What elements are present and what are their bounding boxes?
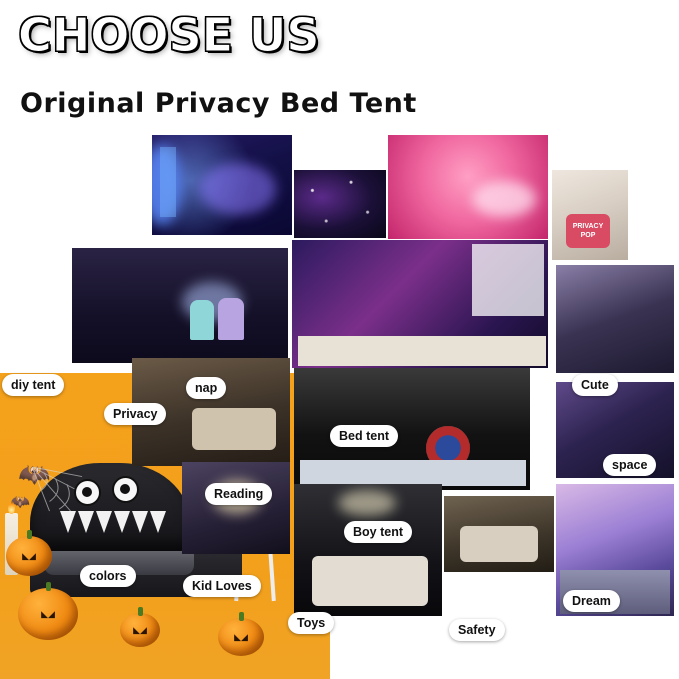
label-toys[interactable]: Toys (288, 612, 334, 634)
label-bed-tent[interactable]: Bed tent (330, 425, 398, 447)
pumpkin-decor: ◣◢ (6, 536, 52, 576)
label-kid-loves[interactable]: Kid Loves (183, 575, 261, 597)
photo-cute-tent (556, 265, 674, 373)
label-diy-tent[interactable]: diy tent (2, 374, 64, 396)
photo-pink-room (388, 135, 548, 239)
label-nap[interactable]: nap (186, 377, 226, 399)
label-privacy[interactable]: Privacy (104, 403, 166, 425)
page-subheadline: Original Privacy Bed Tent (20, 88, 417, 119)
label-reading[interactable]: Reading (205, 483, 272, 505)
monster-eye-icon (74, 479, 101, 506)
photo-black-tent (294, 368, 530, 490)
label-boy-tent[interactable]: Boy tent (344, 521, 412, 543)
photo-privacy-pop: PRIVACYPOP (552, 170, 628, 260)
photo-kids-tent (72, 248, 288, 363)
photo-safety-tent (444, 496, 554, 572)
photo-galaxy-dark (294, 170, 386, 238)
photo-reading-tent (182, 462, 290, 554)
pumpkin-decor: ◣◢ (18, 588, 78, 640)
label-space[interactable]: space (603, 454, 656, 476)
label-dream[interactable]: Dream (563, 590, 620, 612)
monster-eye-icon (112, 476, 139, 503)
label-colors[interactable]: colors (80, 565, 136, 587)
label-safety[interactable]: Safety (449, 619, 505, 641)
photo-blue-room (152, 135, 292, 235)
monster-teeth-icon (60, 511, 170, 537)
photo-galaxy-bunk (292, 240, 548, 368)
pumpkin-decor: ◣◢ (120, 613, 160, 647)
poster-canvas: CHOOSE US Original Privacy Bed Tent 🦇 🦇 (0, 0, 679, 679)
label-cute[interactable]: Cute (572, 374, 618, 396)
pumpkin-decor: ◣◢ (218, 618, 264, 656)
page-headline: CHOOSE US (18, 10, 320, 60)
